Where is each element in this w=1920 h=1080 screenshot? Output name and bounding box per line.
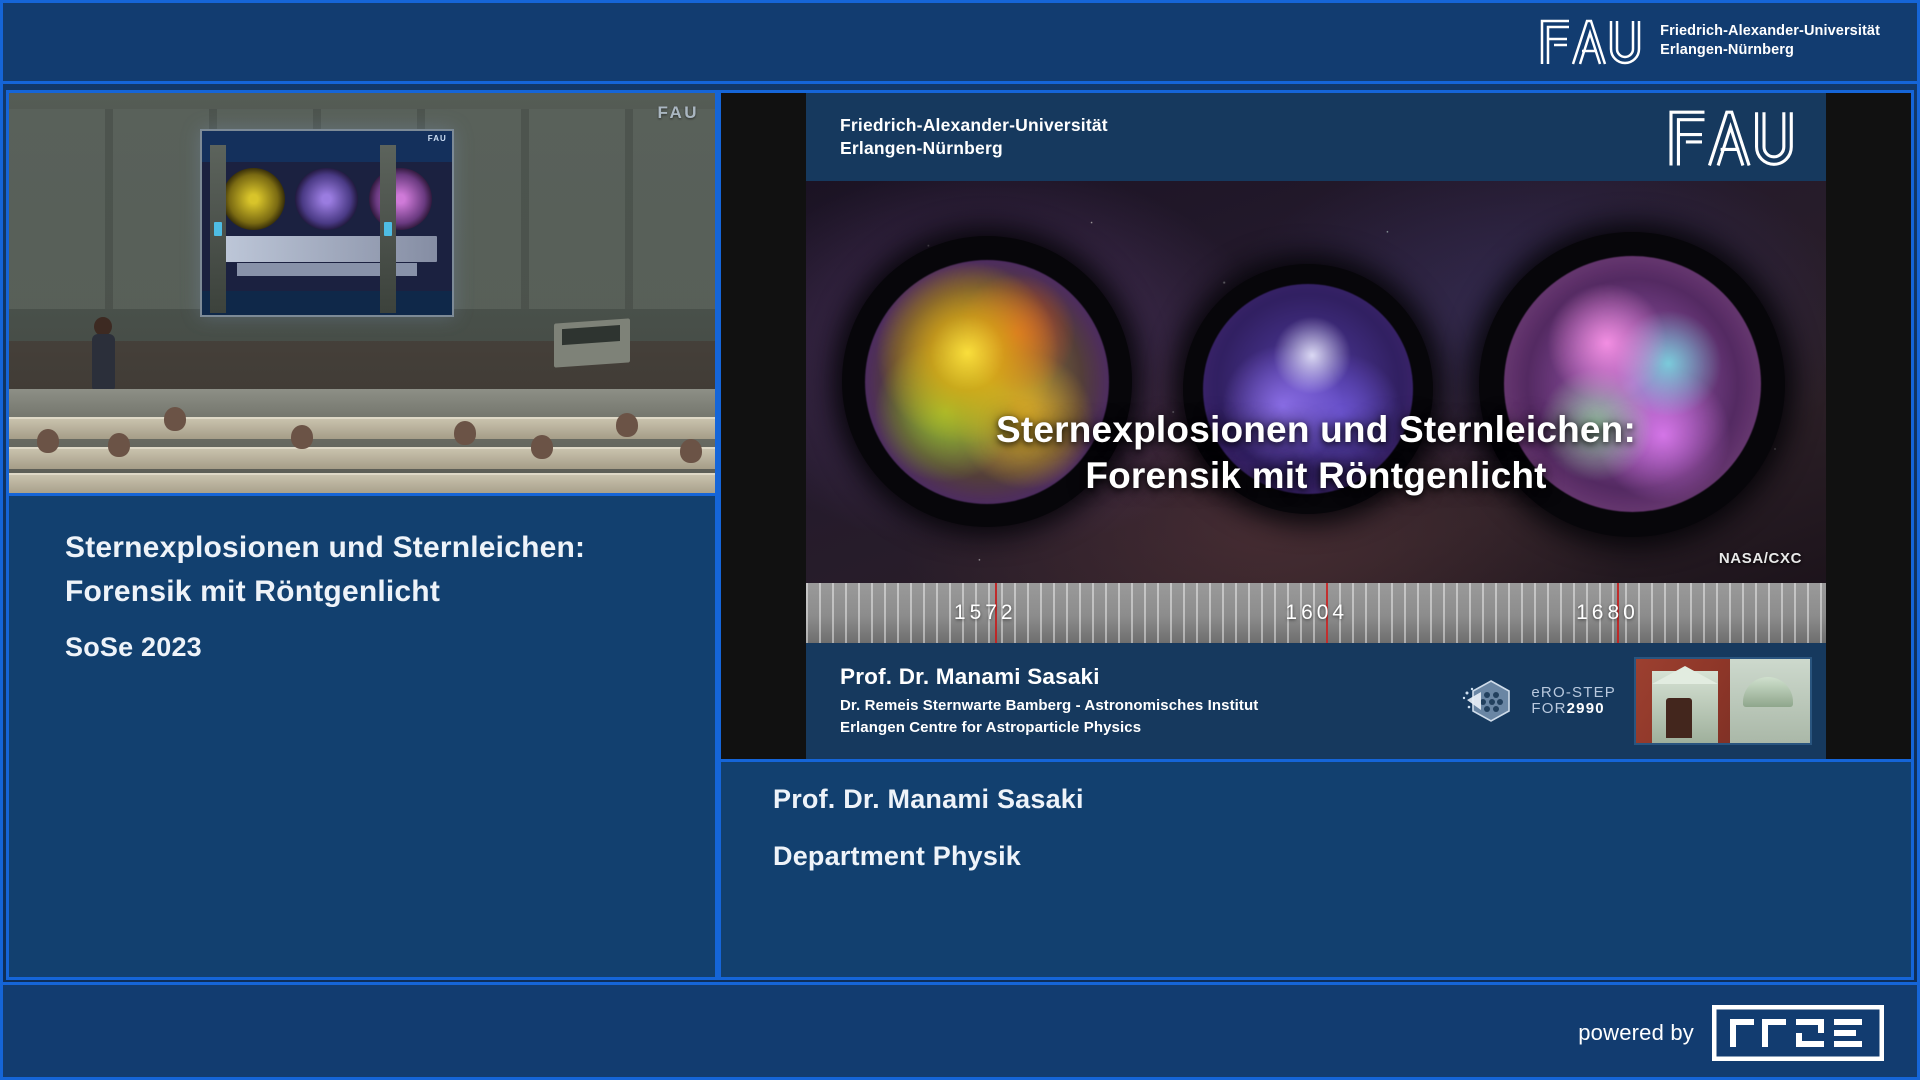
title-slide: Friedrich-Alexander-Universität Erlangen… (806, 93, 1826, 759)
slide-university-name: Friedrich-Alexander-Universität Erlangen… (840, 114, 1108, 160)
rrze-logo-icon (1712, 1005, 1884, 1061)
erostep-line2: FOR2990 (1531, 701, 1616, 717)
bench-row-3 (9, 473, 715, 495)
slide-uni-line1: Friedrich-Alexander-Universität (840, 114, 1108, 137)
fau-name-line2: Erlangen-Nürnberg (1660, 41, 1880, 60)
slide-letterbox-right (1826, 93, 1911, 759)
slide-affiliation-line1: Dr. Remeis Sternwarte Bamberg - Astronom… (840, 695, 1447, 716)
slide-letterbox-left (721, 93, 806, 759)
erostep-hexagon-icon (1461, 676, 1523, 726)
slide-footer: Prof. Dr. Manami Sasaki Dr. Remeis Stern… (806, 643, 1826, 759)
audience-head (291, 425, 313, 449)
projected-fau-logo-icon: FAU (428, 134, 447, 143)
timeline-year-labels: 1572 1604 1680 (806, 583, 1826, 643)
fau-brand: Friedrich-Alexander-Universität Erlangen… (1538, 16, 1880, 66)
audience-seating (9, 389, 715, 493)
projected-slide-title (217, 236, 437, 262)
audience-head (680, 439, 702, 463)
slide-speaker-name: Prof. Dr. Manami Sasaki (840, 664, 1447, 690)
observatory-door (1666, 698, 1692, 738)
projected-remnant-2 (295, 168, 358, 231)
audience-head (164, 407, 186, 431)
projected-remnant-images (222, 168, 432, 231)
audience-head (37, 429, 59, 453)
audience-head (531, 435, 553, 459)
presenter-name: Prof. Dr. Manami Sasaki (773, 784, 1871, 815)
slide-title-line1: Sternexplosionen und Sternleichen: (830, 407, 1802, 453)
audience-head (454, 421, 476, 445)
slide-speaker-block: Prof. Dr. Manami Sasaki Dr. Remeis Stern… (840, 664, 1447, 738)
erostep-line1: eRO-STEP (1531, 685, 1616, 701)
hall-pillar-left (210, 145, 226, 313)
lecture-video-thumbnail[interactable]: FAU (6, 90, 718, 496)
left-column: FAU (6, 90, 718, 980)
erostep-wordmark: eRO-STEP FOR2990 (1531, 685, 1616, 717)
projection-screen: FAU (200, 129, 454, 317)
projected-remnant-3 (369, 168, 432, 231)
lecture-player-page: Friedrich-Alexander-Universität Erlangen… (0, 0, 1920, 1080)
slide-fau-logo-icon (1658, 106, 1808, 168)
lectern-console (554, 318, 630, 367)
fau-name-line1: Friedrich-Alexander-Universität (1660, 22, 1880, 41)
erostep-project-logo: eRO-STEP FOR2990 (1461, 676, 1616, 726)
erostep-for: FOR (1531, 700, 1566, 717)
audience-head (616, 413, 638, 437)
projected-slide-footer (202, 291, 452, 315)
powered-by-label: powered by (1578, 1020, 1694, 1046)
slide-title-line2: Forensik mit Röntgenlicht (830, 453, 1802, 499)
lecture-title: Sternexplosionen und Sternleichen: Foren… (65, 526, 625, 614)
slide-uni-line2: Erlangen-Nürnberg (840, 137, 1108, 160)
slide-main-title: Sternexplosionen und Sternleichen: Foren… (806, 407, 1826, 499)
timeline-year-3: 1680 (1576, 601, 1639, 625)
lecture-info-panel: Sternexplosionen und Sternleichen: Foren… (6, 496, 718, 980)
timeline-year-2: 1604 (1285, 601, 1348, 625)
observatory-photo (1634, 657, 1812, 745)
slide-viewer[interactable]: Friedrich-Alexander-Universität Erlangen… (718, 90, 1914, 762)
audience-head (108, 433, 130, 457)
lecture-term: SoSe 2023 (65, 632, 669, 663)
page-header: Friedrich-Alexander-Universität Erlangen… (0, 0, 1920, 84)
hall-pillar-right (380, 145, 396, 313)
observatory-pediment (1652, 666, 1718, 684)
speaker-figure (94, 317, 114, 391)
presenter-department: Department Physik (773, 841, 1871, 872)
slide-affiliation-line2: Erlangen Centre for Astroparticle Physic… (840, 717, 1447, 738)
slide-header: Friedrich-Alexander-Universität Erlangen… (806, 93, 1826, 181)
timeline-ruler: 1572 1604 1680 (806, 583, 1826, 643)
lecture-hall-photo: FAU (9, 93, 715, 493)
slide-artwork: Sternexplosionen und Sternleichen: Foren… (806, 181, 1826, 643)
page-footer: powered by (0, 982, 1920, 1080)
fau-logo-icon (1538, 16, 1646, 66)
erostep-number: 2990 (1567, 700, 1605, 717)
speaker-body (92, 334, 115, 390)
image-credit: NASA/CXC (1719, 550, 1802, 567)
projected-slide-header: FAU (202, 131, 452, 162)
video-watermark: FAU (658, 103, 700, 123)
timeline-year-1: 1572 (954, 601, 1017, 625)
presenter-panel: Prof. Dr. Manami Sasaki Department Physi… (718, 762, 1914, 980)
fau-university-name: Friedrich-Alexander-Universität Erlangen… (1660, 22, 1880, 59)
projected-remnant-1 (222, 168, 285, 231)
